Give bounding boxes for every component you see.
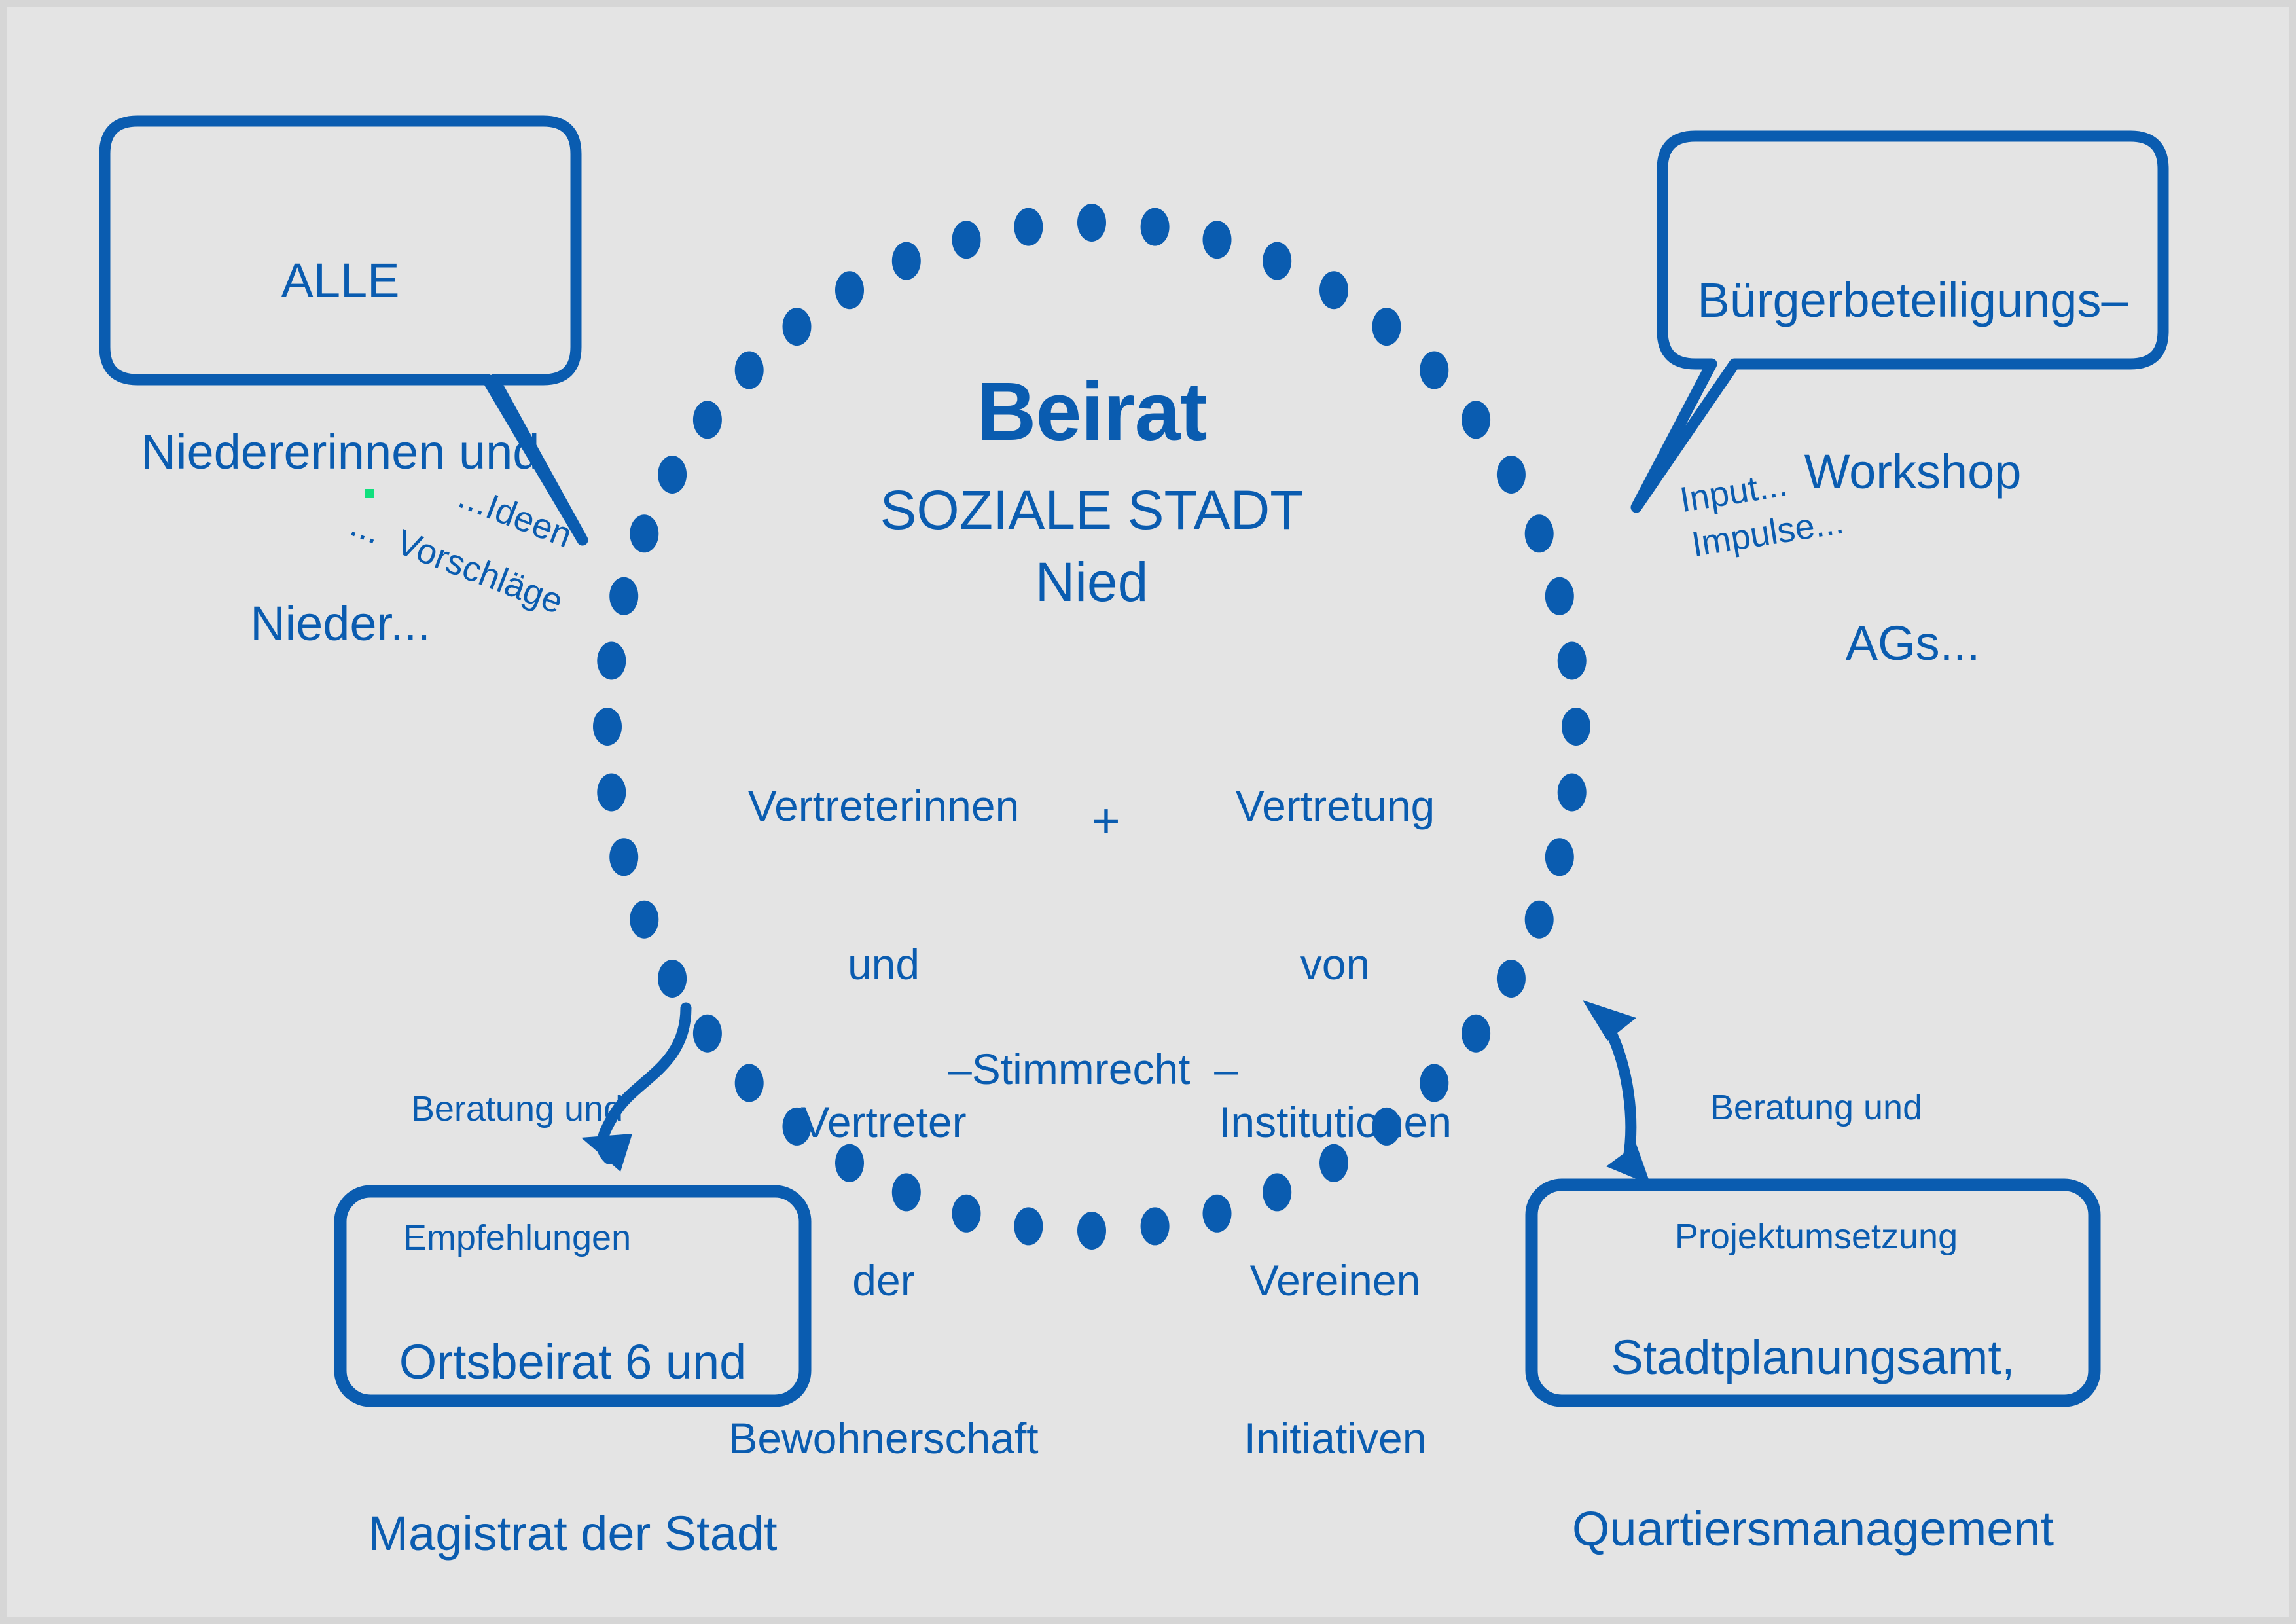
ring-dot bbox=[1203, 221, 1232, 259]
box-bottom-right-text: Stadtplanungsamt, Quartiersmanagement un… bbox=[1538, 1214, 2088, 1624]
ring-dot bbox=[1420, 352, 1448, 389]
ring-dot bbox=[1558, 774, 1587, 812]
right-column-line-5: Initiativen bbox=[1178, 1412, 1492, 1465]
arrow-beratung-projektumsetzung bbox=[1583, 1000, 1651, 1185]
ring-dot bbox=[1077, 1212, 1106, 1250]
ring-dot bbox=[693, 401, 722, 439]
box-bottom-right-line-1: Stadtplanungsamt, bbox=[1538, 1329, 2088, 1386]
left-column-line-2: und bbox=[713, 938, 1054, 991]
ring-dot bbox=[1077, 204, 1106, 242]
bubble-top-left-text: ALLE Niedererinnen und Nieder... bbox=[105, 137, 576, 766]
left-column-line-1: Vertreterinnen bbox=[713, 780, 1054, 833]
bubble-top-left-line-1: ALLE bbox=[105, 252, 576, 309]
box-bottom-left-line-1: Ortsbeirat 6 und bbox=[347, 1333, 798, 1390]
right-column-line-1: Vertretung bbox=[1178, 780, 1492, 833]
circle-right-column: Vertretung von Institutionen Vereinen In… bbox=[1178, 674, 1492, 1570]
ring-dot bbox=[1497, 456, 1526, 494]
box-bottom-left-text: Ortsbeirat 6 und Magistrat der Stadt Fra… bbox=[347, 1219, 798, 1624]
bubble-top-left-line-2: Niedererinnen und bbox=[105, 424, 576, 480]
bubble-top-right-line-1: Bürgerbeteiligungs– bbox=[1669, 272, 2157, 329]
box-bottom-right-line-2: Quartiersmanagement bbox=[1538, 1500, 2088, 1557]
ring-dot bbox=[892, 242, 921, 280]
ring-dot bbox=[1014, 208, 1043, 246]
right-column-line-4: Vereinen bbox=[1178, 1254, 1492, 1307]
ring-dot bbox=[1525, 901, 1554, 939]
stimmrecht-note: –Stimmrecht – bbox=[897, 1044, 1289, 1095]
ring-dot bbox=[1319, 271, 1348, 309]
ring-dot bbox=[630, 514, 658, 552]
diagram-canvas: ALLE Niedererinnen und Nieder... Bürgerb… bbox=[0, 0, 2296, 1624]
ring-dot bbox=[597, 642, 626, 680]
ring-dot bbox=[609, 577, 638, 615]
right-column-line-2: von bbox=[1178, 938, 1492, 991]
plus-operator: + bbox=[1080, 792, 1132, 849]
right-column-line-3: Institutionen bbox=[1178, 1096, 1492, 1149]
ring-dot bbox=[630, 901, 658, 939]
ring-dot bbox=[1545, 577, 1574, 615]
ring-dot bbox=[952, 221, 981, 259]
box-bottom-left-line-2: Magistrat der Stadt bbox=[347, 1505, 798, 1562]
ring-dot bbox=[658, 960, 687, 998]
ring-dot bbox=[1525, 514, 1554, 552]
ring-dot bbox=[1141, 208, 1170, 246]
circle-subtitle-line-2: Nied bbox=[764, 550, 1419, 615]
beratung-projektumsetzung-line-1: Beratung und bbox=[1649, 1087, 1983, 1130]
ring-dot bbox=[1263, 242, 1291, 280]
bubble-top-right-line-3: AGs... bbox=[1669, 615, 2157, 672]
ring-dot bbox=[597, 774, 626, 812]
ring-dot bbox=[735, 352, 764, 389]
ring-dot bbox=[593, 708, 622, 746]
ring-dot bbox=[609, 838, 638, 876]
circle-title: Beirat bbox=[764, 363, 1419, 461]
ring-dot bbox=[1462, 401, 1490, 439]
ring-dot bbox=[1141, 1207, 1170, 1245]
circle-subtitle-line-1: SOZIALE STADT bbox=[764, 478, 1419, 543]
ring-dot bbox=[783, 308, 812, 346]
beratung-empfehlungen-line-1: Beratung und bbox=[363, 1088, 671, 1131]
ring-dot bbox=[1372, 308, 1401, 346]
ring-dot bbox=[658, 456, 687, 494]
left-column-line-3: Vertreter bbox=[713, 1096, 1054, 1149]
ring-dot bbox=[1562, 708, 1590, 746]
ring-dot bbox=[1558, 642, 1587, 680]
ring-dot bbox=[1497, 960, 1526, 998]
ring-dot bbox=[835, 271, 864, 309]
ring-dot bbox=[1545, 838, 1574, 876]
green-accent-dot bbox=[365, 489, 374, 498]
